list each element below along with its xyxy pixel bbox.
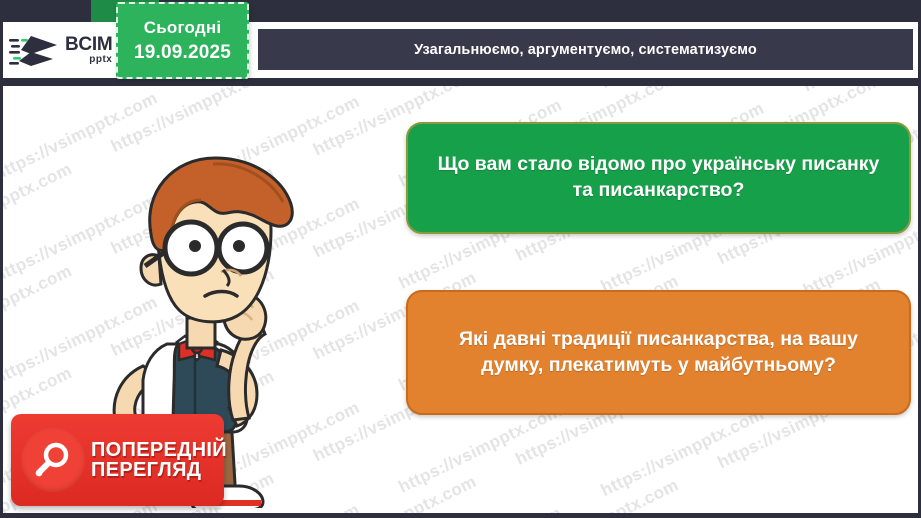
top-strip-bottom-band xyxy=(3,78,921,86)
logo-main-text: BCIM xyxy=(65,36,112,54)
brand-logo[interactable]: BCIM pptx xyxy=(3,22,123,78)
header-title-bar: Узагальнюємо, аргументуємо, систематизує… xyxy=(258,29,913,70)
preview-badge[interactable]: ПОПЕРЕДНІЙ ПЕРЕГЛЯД xyxy=(11,414,224,506)
question-card-green[interactable]: Що вам стало відомо про українську писан… xyxy=(406,122,911,234)
question-card-green-text: Що вам стало відомо про українську писан… xyxy=(430,152,887,203)
graduation-cap-icon xyxy=(9,32,61,68)
today-label: Сьогодні xyxy=(144,18,222,38)
question-card-orange[interactable]: Які давні традиції писанкарства, на вашу… xyxy=(406,290,911,415)
today-date-value: 19.09.2025 xyxy=(134,42,231,64)
question-card-orange-text: Які давні традиції писанкарства, на вашу… xyxy=(430,327,887,378)
page-title: Узагальнюємо, аргументуємо, систематизує… xyxy=(414,42,757,58)
logo-sub-text: pptx xyxy=(65,55,112,65)
preview-badge-line-2: ПЕРЕГЛЯД xyxy=(91,460,227,480)
preview-badge-line-1: ПОПЕРЕДНІЙ xyxy=(91,440,227,460)
magnifier-icon xyxy=(21,428,85,492)
slide-canvas: https://vsimpptx.comhttps://vsimpptx.com… xyxy=(0,0,921,518)
today-date-badge: Сьогодні 19.09.2025 xyxy=(116,2,249,79)
